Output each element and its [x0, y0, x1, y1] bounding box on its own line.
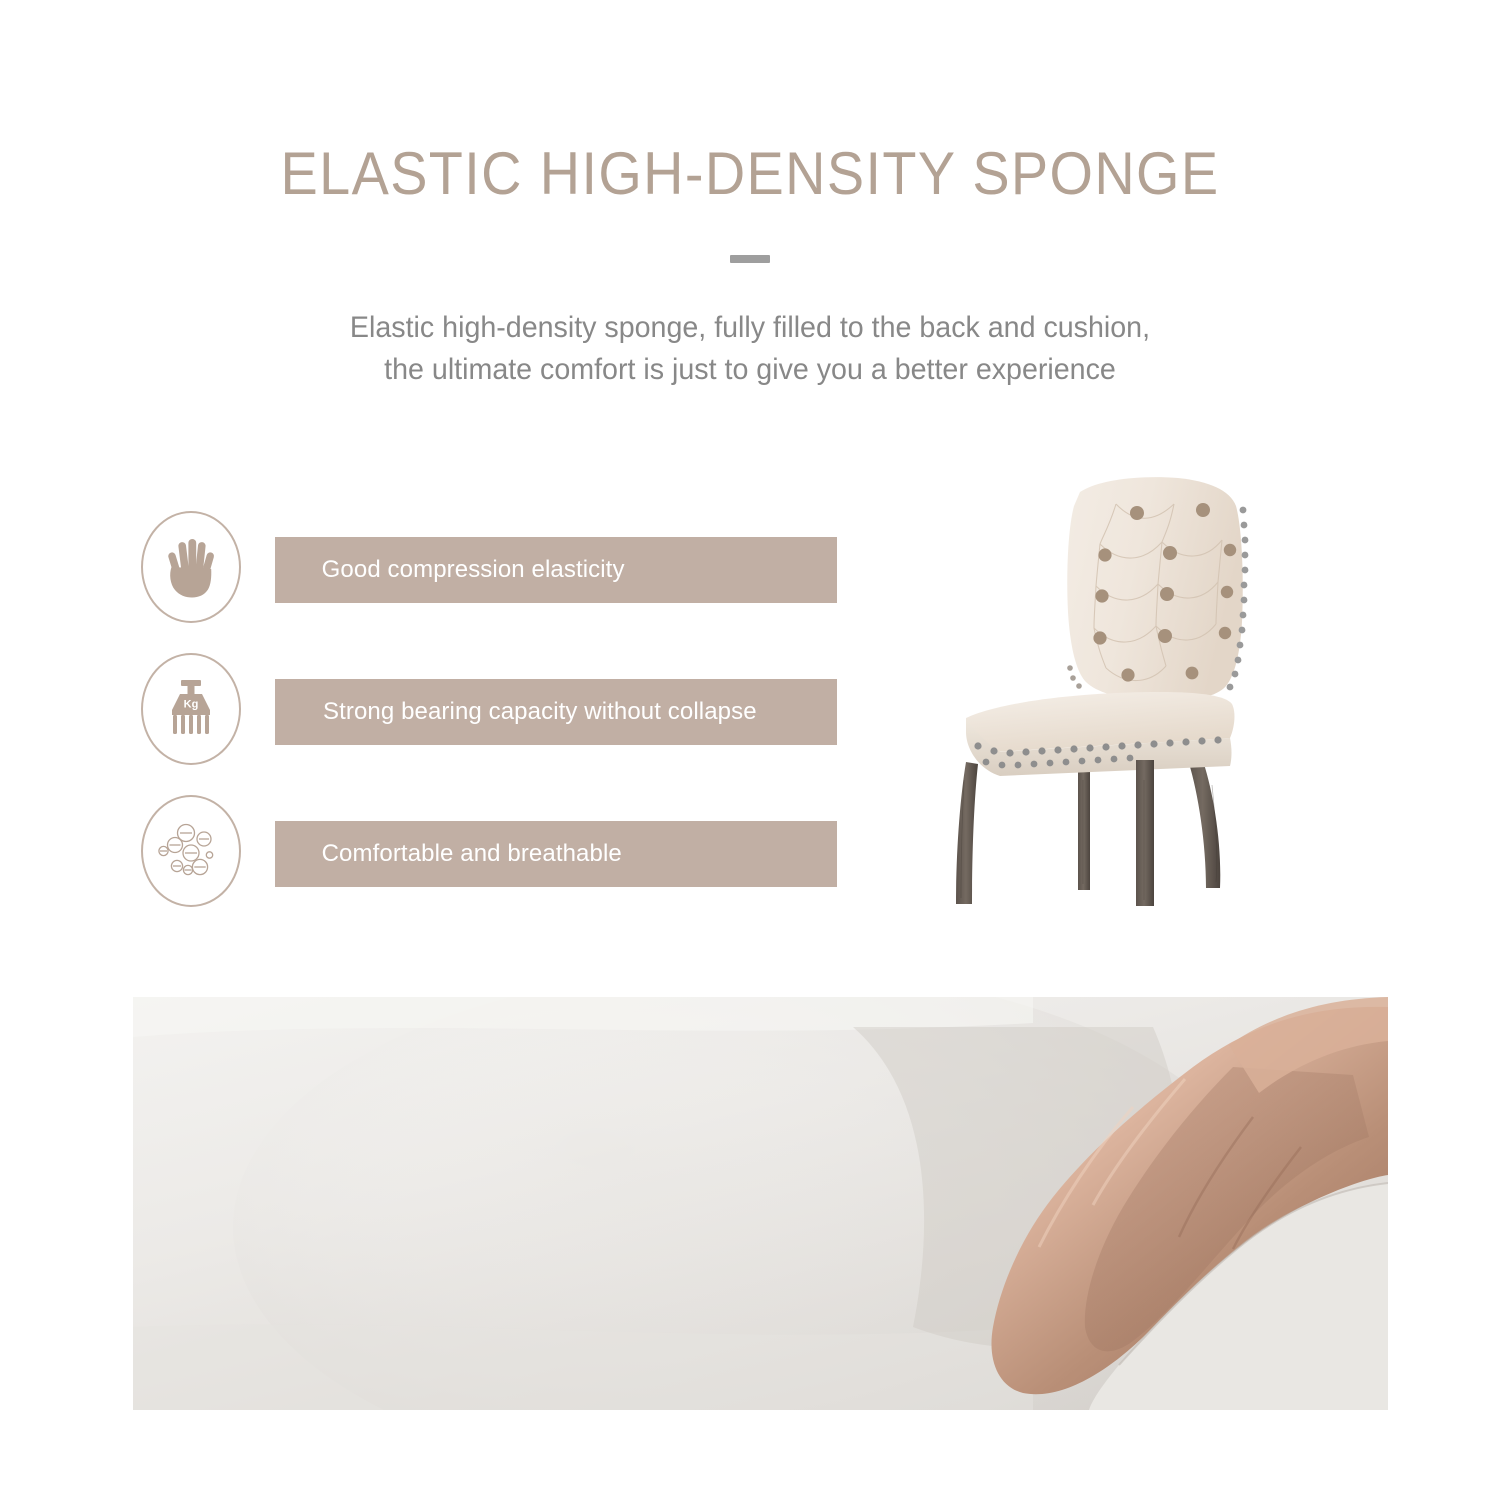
weight-press-kg-icon: Kg: [141, 653, 241, 765]
feature-bar: Good compression elasticity: [275, 537, 837, 603]
hand-pressing-foam-sponge-image: [133, 997, 1388, 1410]
kg-icon-text: Kg: [184, 699, 199, 711]
feature-list: Good compression elasticity: [133, 505, 843, 931]
subtitle-line-1: Elastic high-density sponge, fully fille…: [23, 307, 1478, 349]
page-subtitle: Elastic high-density sponge, fully fille…: [23, 307, 1478, 391]
title-divider: [730, 255, 770, 263]
feature-row: Kg Strong bearing capacity without colla…: [133, 647, 843, 789]
feature-row: Good compression elasticity: [133, 505, 843, 647]
page-header: ELASTIC HIGH-DENSITY SPONGE Elastic high…: [0, 142, 1500, 391]
subtitle-line-2: the ultimate comfort is just to give you…: [23, 349, 1478, 391]
breathable-pores-icon: [141, 795, 241, 907]
feature-bar: Strong bearing capacity without collapse: [275, 679, 837, 745]
feature-label: Strong bearing capacity without collapse: [280, 698, 757, 726]
tufted-dining-chair-image: [930, 470, 1275, 950]
feature-row: Comfortable and breathable: [133, 789, 843, 931]
hand-palm-icon: [141, 511, 241, 623]
feature-bar: Comfortable and breathable: [275, 821, 837, 887]
page-title: ELASTIC HIGH-DENSITY SPONGE: [53, 142, 1448, 207]
feature-label: Comfortable and breathable: [279, 840, 622, 868]
product-feature-page: ELASTIC HIGH-DENSITY SPONGE Elastic high…: [0, 0, 1500, 1500]
feature-label: Good compression elasticity: [279, 556, 625, 584]
